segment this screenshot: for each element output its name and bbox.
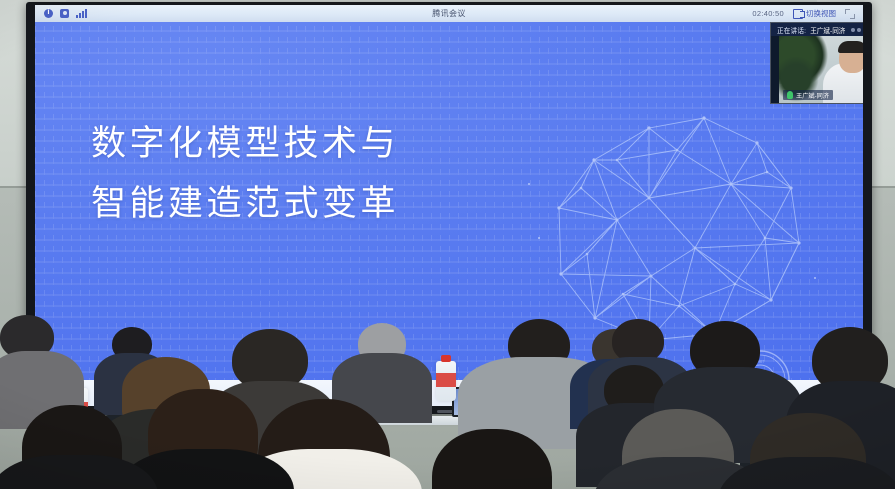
speaker-label-bar: 正在讲话: 王广斌-同济 bbox=[771, 23, 863, 36]
app-title: 腾讯会议 bbox=[35, 8, 863, 19]
svg-text:1907: 1907 bbox=[756, 359, 766, 364]
live-icon bbox=[590, 383, 604, 395]
toolbar-label-record: 录制 bbox=[531, 396, 542, 404]
switch-view-button[interactable]: 切换视图 bbox=[793, 8, 836, 19]
shield-icon bbox=[290, 383, 304, 395]
meeting-toolbar[interactable]: 安全 邀请 管理成员(5) bbox=[35, 380, 863, 406]
toolbar-item-record[interactable]: 录制 bbox=[507, 383, 567, 404]
toolbar-label-security: 安全 bbox=[291, 396, 302, 404]
toolbar-label-live: 直播 bbox=[591, 396, 602, 404]
app-titlebar: 腾讯会议 02:40:50 切换视图 bbox=[35, 5, 863, 22]
slide-title-line-1: 数字化模型技术与 bbox=[91, 114, 399, 174]
speaking-label: 正在讲话: bbox=[777, 25, 806, 35]
speaker-more-icon[interactable] bbox=[851, 28, 861, 32]
toolbar-label-invite: 邀请 bbox=[351, 396, 362, 404]
record-icon bbox=[530, 383, 544, 395]
toolbar-item-security[interactable]: 安全 bbox=[267, 383, 327, 404]
toolbar-item-members[interactable]: 管理成员(5) bbox=[387, 383, 447, 404]
expand-icon[interactable] bbox=[845, 9, 855, 19]
chat-icon bbox=[470, 383, 484, 395]
titlebar-right: 02:40:50 切换视图 bbox=[752, 5, 855, 22]
slide-title: 数字化模型技术与 智能建造范式变革 bbox=[91, 114, 399, 234]
speaker-hair bbox=[838, 41, 863, 53]
speaker-video-feed: 王广斌-同济 bbox=[779, 36, 863, 103]
switch-view-label: 切换视图 bbox=[806, 8, 836, 19]
meeting-app: 腾讯会议 02:40:50 切换视图 bbox=[35, 5, 863, 406]
switch-view-icon bbox=[793, 9, 803, 19]
toolbar-item-invite[interactable]: 邀请 bbox=[327, 383, 387, 404]
speaker-name-badge: 王广斌-同济 bbox=[783, 90, 833, 100]
slide-title-line-2: 智能建造范式变革 bbox=[91, 174, 399, 234]
toolbar-scroll-left-icon[interactable] bbox=[251, 391, 257, 395]
invite-person-icon bbox=[350, 383, 364, 395]
speaking-name: 王广斌-同济 bbox=[810, 25, 845, 35]
toolbar-item-chat[interactable]: 聊天 bbox=[447, 383, 507, 404]
display-screen: 腾讯会议 02:40:50 切换视图 bbox=[26, 2, 872, 414]
speaker-badge-name: 王广斌-同济 bbox=[796, 91, 829, 100]
toolbar-label-chat: 聊天 bbox=[471, 396, 482, 404]
display-brand-logo bbox=[437, 410, 461, 413]
network-mesh-graphic bbox=[499, 88, 829, 358]
presentation-slide: 数字化模型技术与 智能建造范式变革 1907 TONGJI UNIVERSITY bbox=[35, 22, 863, 406]
toolbar-label-members: 管理成员(5) bbox=[402, 396, 432, 404]
display-surface: 腾讯会议 02:40:50 切换视图 bbox=[35, 5, 863, 406]
screenshot-root: 腾讯会议 02:40:50 切换视图 bbox=[0, 0, 895, 489]
members-icon bbox=[410, 383, 424, 395]
toolbar-scroll-right-icon[interactable] bbox=[641, 391, 647, 395]
microphone-icon bbox=[787, 91, 793, 99]
speaker-video-panel[interactable]: 正在讲话: 王广斌-同济 王广斌-同济 bbox=[770, 22, 863, 104]
meeting-timer: 02:40:50 bbox=[752, 9, 784, 18]
